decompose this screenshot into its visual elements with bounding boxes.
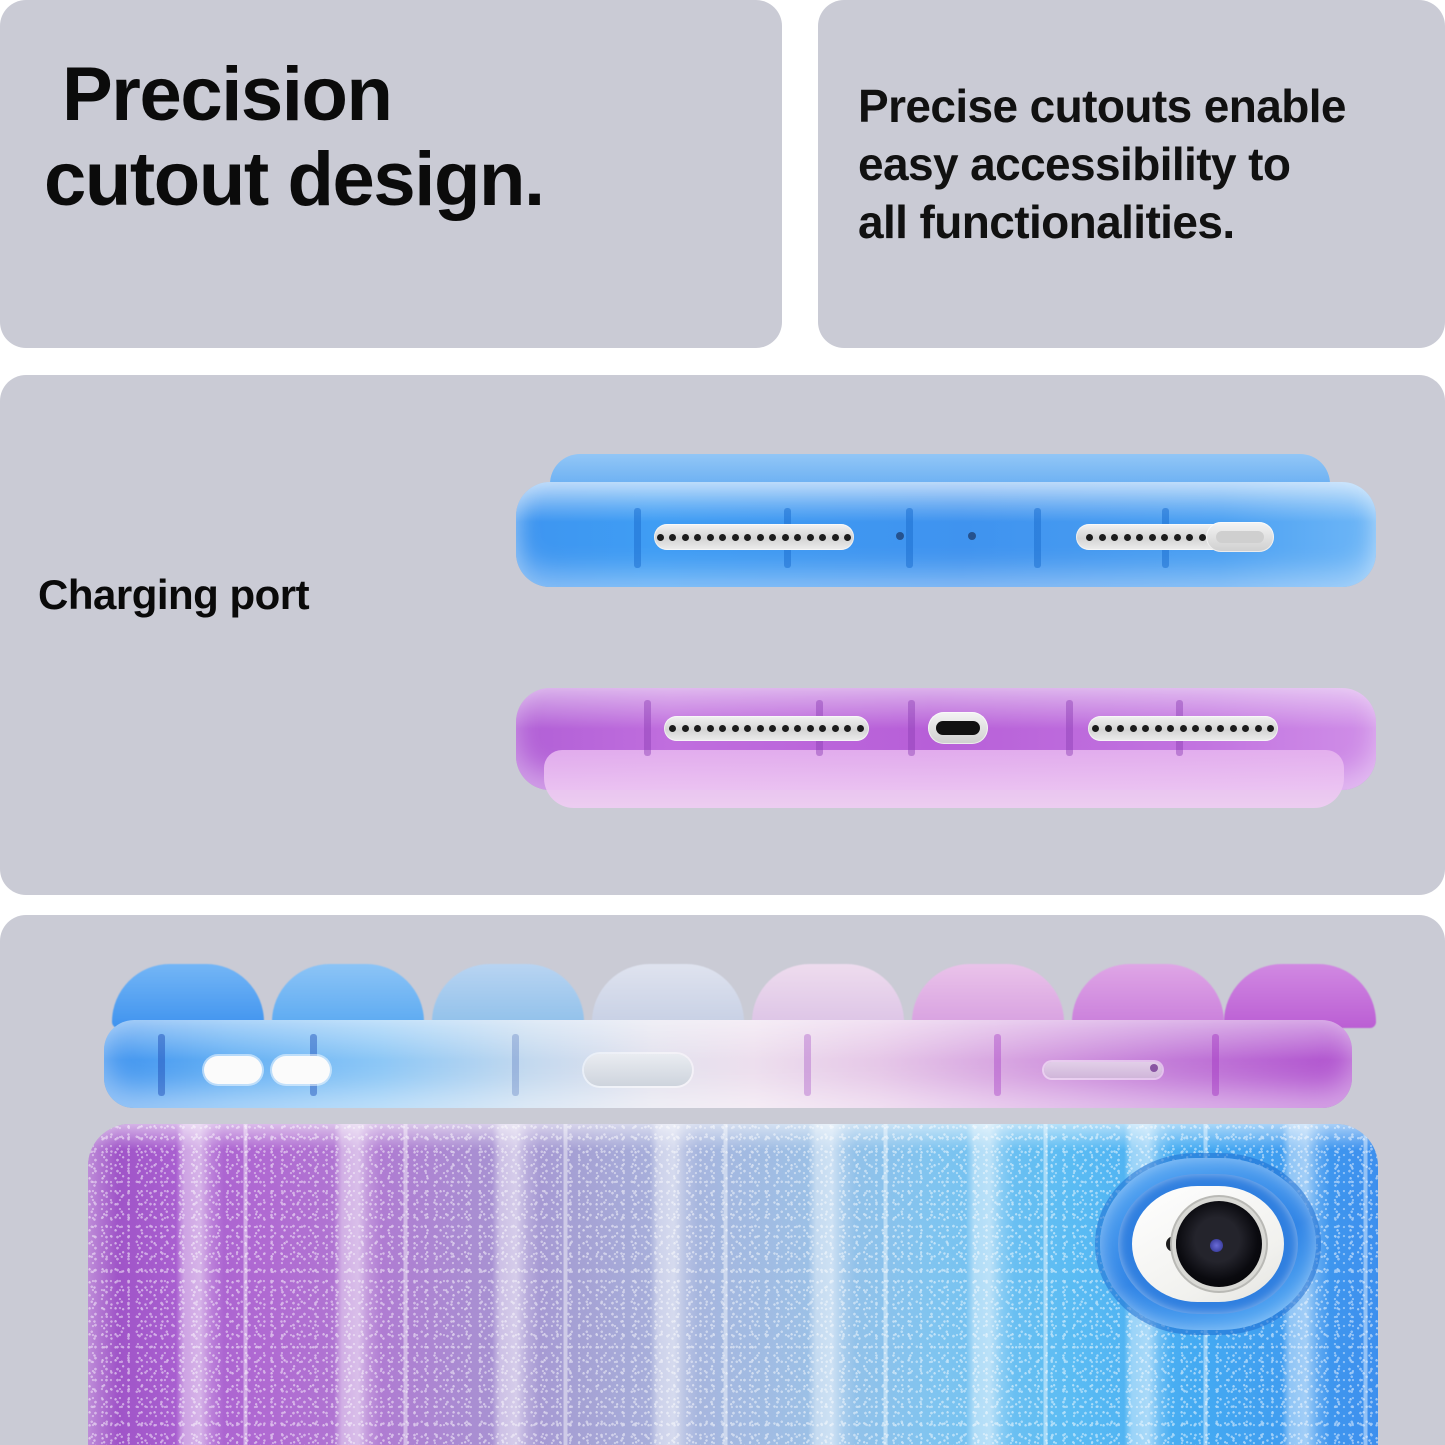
grille-hole bbox=[1161, 534, 1168, 541]
grille-hole bbox=[1111, 534, 1118, 541]
case-rib bbox=[158, 1034, 165, 1096]
speaker-grille bbox=[1088, 716, 1278, 741]
microphone-dot bbox=[1150, 1064, 1158, 1072]
grille-hole bbox=[794, 534, 801, 541]
smart-connector bbox=[1206, 522, 1274, 552]
case-rib bbox=[644, 700, 651, 756]
microphone-dot bbox=[968, 532, 976, 540]
feature-description: Precise cutouts enable easy accessibilit… bbox=[858, 78, 1428, 252]
grille-hole bbox=[1192, 725, 1199, 732]
case-bump bbox=[112, 964, 264, 1028]
case-rib bbox=[908, 700, 915, 756]
grille-hole bbox=[1205, 725, 1212, 732]
grille-hole bbox=[819, 725, 826, 732]
grille-hole bbox=[1124, 534, 1131, 541]
case-bump bbox=[272, 964, 424, 1028]
grille-hole bbox=[1186, 534, 1193, 541]
precise-cutouts-copy-panel: Precise cutouts enable easy accessibilit… bbox=[818, 0, 1445, 348]
camera-lens-icon bbox=[1176, 1201, 1262, 1287]
volume-up-cutout bbox=[204, 1056, 262, 1084]
grille-hole bbox=[1217, 725, 1224, 732]
grille-hole bbox=[719, 725, 726, 732]
grille-hole bbox=[769, 725, 776, 732]
page-title: Precision cutout design. bbox=[62, 52, 762, 222]
headline-line-2: cutout design. bbox=[44, 137, 762, 222]
grille-hole bbox=[1155, 725, 1162, 732]
grille-hole bbox=[1199, 534, 1206, 541]
grille-hole bbox=[757, 725, 764, 732]
case-bumps bbox=[104, 958, 1352, 1028]
camera-plate bbox=[1132, 1186, 1284, 1302]
speaker-grille bbox=[664, 716, 869, 741]
grille-hole bbox=[1174, 534, 1181, 541]
gradient-tablet-side-edge bbox=[104, 1020, 1352, 1108]
grille-hole bbox=[1167, 725, 1174, 732]
grille-hole bbox=[732, 725, 739, 732]
grille-hole bbox=[794, 725, 801, 732]
grille-hole bbox=[1099, 534, 1106, 541]
usb-c-charging-port bbox=[928, 712, 988, 744]
grille-hole bbox=[744, 725, 751, 732]
grille-hole bbox=[682, 534, 689, 541]
case-bump bbox=[592, 964, 744, 1028]
grille-hole bbox=[857, 725, 864, 732]
case-rib bbox=[634, 508, 641, 568]
charging-port-panel: Charging port bbox=[0, 375, 1445, 895]
grille-hole bbox=[1255, 725, 1262, 732]
charging-port-label: Charging port bbox=[38, 571, 309, 619]
case-rib bbox=[1034, 508, 1041, 568]
grille-hole bbox=[832, 534, 839, 541]
headline-line-1: Precision bbox=[62, 52, 392, 137]
grille-hole bbox=[819, 534, 826, 541]
volume-down-cutout bbox=[272, 1056, 330, 1084]
grille-hole bbox=[1136, 534, 1143, 541]
case-rib bbox=[906, 508, 913, 568]
case-bump bbox=[1072, 964, 1224, 1028]
camera-module bbox=[1100, 1158, 1316, 1330]
grille-hole bbox=[1142, 725, 1149, 732]
power-button-cutout bbox=[584, 1054, 692, 1086]
grille-hole bbox=[694, 725, 701, 732]
case-lip bbox=[544, 750, 1344, 808]
grille-hole bbox=[844, 534, 851, 541]
grille-hole bbox=[1130, 725, 1137, 732]
grille-hole bbox=[719, 534, 726, 541]
blue-tablet-bottom-edge bbox=[516, 482, 1376, 587]
grille-hole bbox=[1105, 725, 1112, 732]
case-bump bbox=[912, 964, 1064, 1028]
case-rib bbox=[1212, 1034, 1219, 1096]
microphone-dot bbox=[896, 532, 904, 540]
grille-hole bbox=[807, 534, 814, 541]
grille-hole bbox=[807, 725, 814, 732]
case-rib bbox=[512, 1034, 519, 1096]
grille-hole bbox=[1149, 534, 1156, 541]
grille-hole bbox=[682, 725, 689, 732]
grille-hole bbox=[744, 534, 751, 541]
grille-hole bbox=[707, 534, 714, 541]
case-rib bbox=[1066, 700, 1073, 756]
case-bump bbox=[752, 964, 904, 1028]
grille-hole bbox=[782, 725, 789, 732]
subcopy-line-2: easy accessibility to bbox=[858, 136, 1428, 194]
speaker-grille bbox=[654, 524, 854, 550]
grille-hole bbox=[1086, 534, 1093, 541]
case-left-rail bbox=[88, 1124, 118, 1445]
grille-hole bbox=[844, 725, 851, 732]
precision-cutout-design-panel: Precision cutout design. bbox=[0, 0, 782, 348]
grille-hole bbox=[1242, 725, 1249, 732]
subcopy-line-3: all functionalities. bbox=[858, 194, 1428, 252]
grille-hole bbox=[782, 534, 789, 541]
grille-hole bbox=[1117, 725, 1124, 732]
sim-tray-slot bbox=[1044, 1062, 1162, 1078]
case-rib bbox=[994, 1034, 1001, 1096]
case-top-rail bbox=[88, 1124, 1378, 1150]
grille-hole bbox=[1092, 725, 1099, 732]
grille-hole bbox=[769, 534, 776, 541]
subcopy-line-1: Precise cutouts enable bbox=[858, 78, 1428, 136]
grille-hole bbox=[1267, 725, 1274, 732]
grille-hole bbox=[707, 725, 714, 732]
grille-hole bbox=[694, 534, 701, 541]
grille-hole bbox=[757, 534, 764, 541]
grille-hole bbox=[1180, 725, 1187, 732]
grille-hole bbox=[657, 534, 664, 541]
grille-hole bbox=[1230, 725, 1237, 732]
grille-hole bbox=[832, 725, 839, 732]
purple-tablet-bottom-edge bbox=[516, 688, 1376, 790]
case-rib bbox=[804, 1034, 811, 1096]
grille-hole bbox=[732, 534, 739, 541]
camera-bezel-ring bbox=[1118, 1174, 1298, 1314]
case-bump bbox=[432, 964, 584, 1028]
grille-hole bbox=[669, 725, 676, 732]
grille-hole bbox=[669, 534, 676, 541]
product-feature-image: Precision cutout design. Precise cutouts… bbox=[0, 0, 1445, 1445]
